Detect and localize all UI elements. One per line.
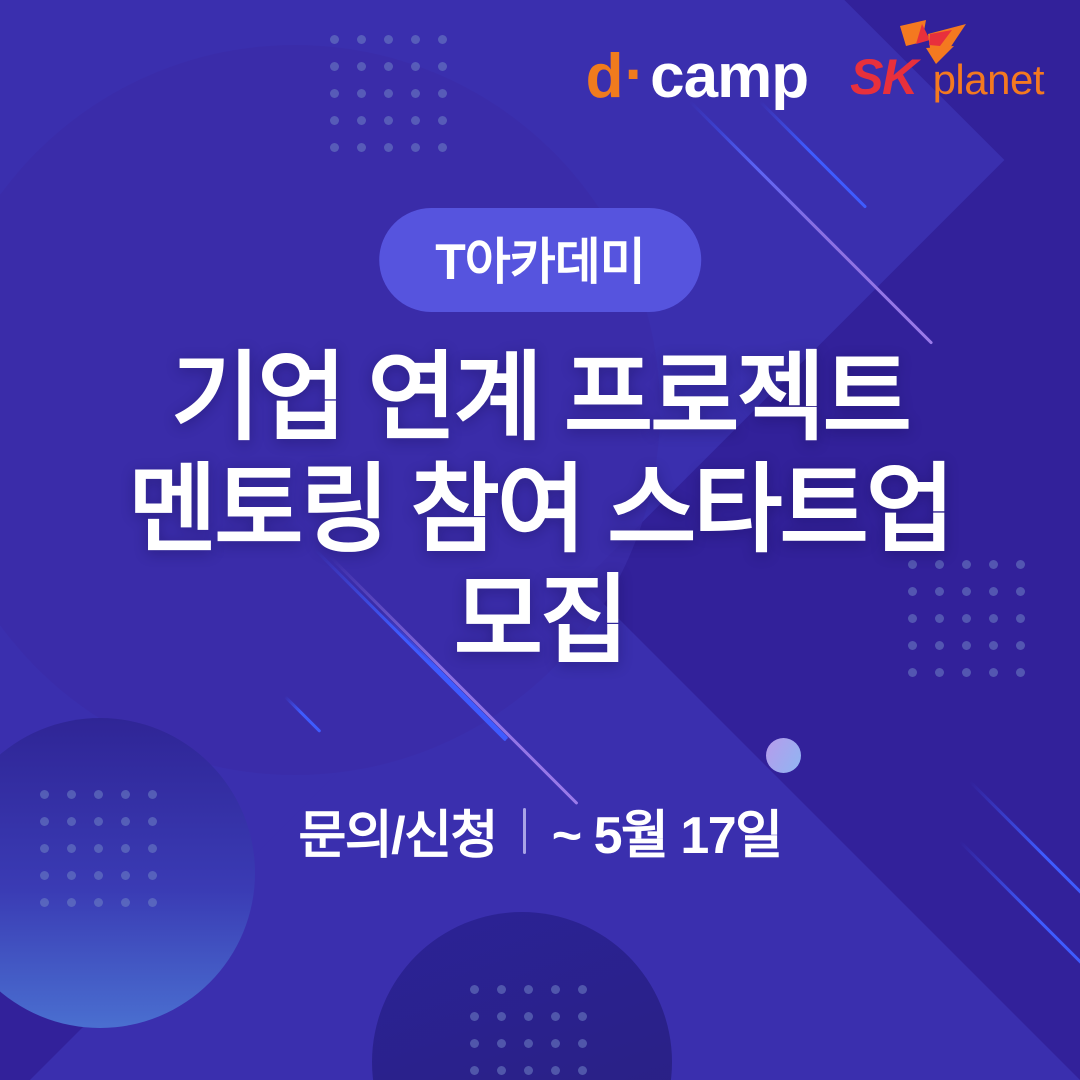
- d-camp-logo-dot-icon: ·: [624, 44, 644, 106]
- category-badge: T아카데미: [379, 208, 701, 312]
- headline-line-2: 멘토링 참여 스타트업: [0, 454, 1080, 566]
- contact-label: 문의/신청: [298, 793, 496, 868]
- d-camp-logo-camp: camp: [650, 46, 808, 108]
- d-camp-logo: d · camp: [586, 46, 809, 108]
- headline-line-3: 모집: [0, 565, 1080, 677]
- headline-line-1: 기업 연계 프로젝트: [0, 342, 1080, 454]
- promo-poster: d · camp SK planet T아카데미 기업 연계 프로젝트 멘토링 …: [0, 0, 1080, 1080]
- footer-divider: [523, 808, 526, 854]
- d-camp-logo-d: d: [586, 46, 623, 108]
- headline: 기업 연계 프로젝트 멘토링 참여 스타트업 모집: [0, 342, 1080, 677]
- footer-note: 문의/신청 ~ 5월 17일: [0, 793, 1080, 868]
- deadline-label: ~ 5월 17일: [552, 793, 782, 868]
- poster-content: d · camp SK planet T아카데미 기업 연계 프로젝트 멘토링 …: [0, 0, 1080, 1080]
- logo-row: d · camp SK planet: [586, 46, 1044, 108]
- sk-planet-butterfly-icon: [896, 18, 970, 70]
- sk-planet-logo: SK planet: [850, 52, 1044, 102]
